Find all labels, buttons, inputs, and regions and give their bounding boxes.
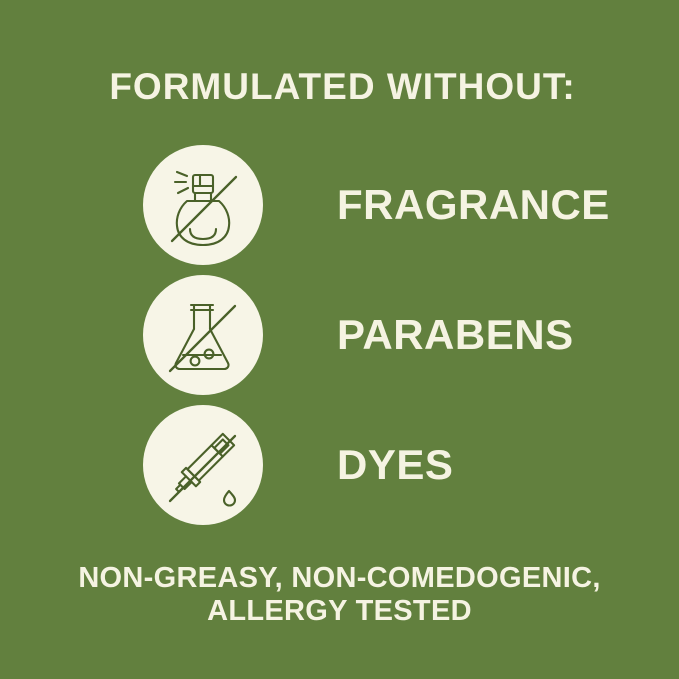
footer-claims: NON-GREASY, NON-COMEDOGENIC, ALLERGY TES…: [0, 562, 679, 628]
no-parabens-flask-icon: [143, 275, 263, 395]
list-item-label: DYES: [337, 443, 453, 487]
footer-line-2: ALLERGY TESTED: [0, 595, 679, 628]
list-item: PARABENS: [0, 275, 679, 395]
no-dyes-dropper-icon: [143, 405, 263, 525]
list-item: DYES: [0, 405, 679, 525]
no-fragrance-bottle-icon: [143, 145, 263, 265]
list-item-label: FRAGRANCE: [337, 183, 610, 227]
page-title: FORMULATED WITHOUT:: [0, 66, 679, 108]
formulated-without-panel: FORMULATED WITHOUT:: [0, 0, 679, 679]
claims-list: FRAGRANCE: [0, 145, 679, 535]
list-item: FRAGRANCE: [0, 145, 679, 265]
list-item-label: PARABENS: [337, 313, 574, 357]
footer-line-1: NON-GREASY, NON-COMEDOGENIC,: [0, 562, 679, 595]
